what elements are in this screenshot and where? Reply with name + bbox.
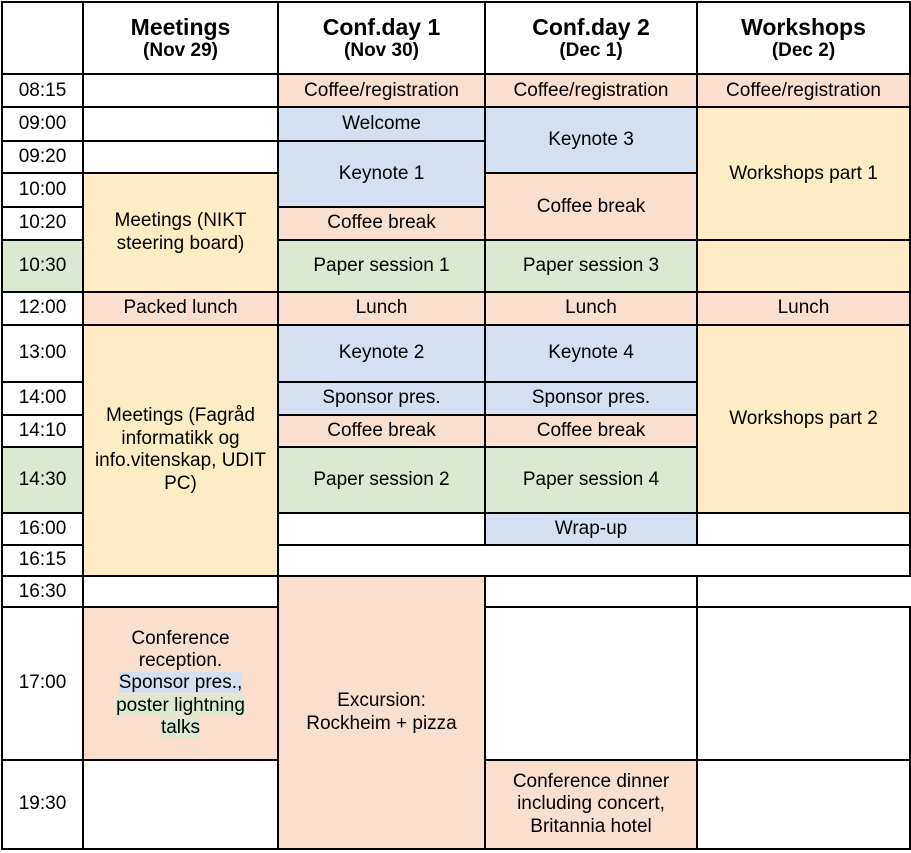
cell-meetings-packed-lunch: Packed lunch — [83, 292, 278, 324]
time-label-1630: 16:30 — [2, 576, 83, 607]
dinner-line-3: Britannia hotel — [489, 816, 693, 838]
reception-line-2: reception. — [87, 650, 274, 672]
cell-workshops-coffee-registration: Coffee/registration — [697, 74, 910, 107]
cell-day2-lunch: Lunch — [485, 292, 697, 324]
cell-meetings-0900 — [83, 107, 278, 140]
time-label-1430: 14:30 — [2, 447, 83, 513]
cell-day2-paper-session-4: Paper session 4 — [485, 447, 697, 513]
cell-meetings-fagrad: Meetings (Fagråd informatikk og info.vit… — [83, 325, 278, 577]
reception-line-1: Conference — [87, 628, 274, 650]
cell-day1-conference-dinner: Conference dinner including concert, Bri… — [485, 760, 697, 849]
time-label-1600: 16:00 — [2, 513, 83, 544]
table-row: 13:00 Meetings (Fagråd informatikk og in… — [2, 325, 910, 383]
cell-meetings-1930 — [83, 760, 278, 849]
excursion-line-1: Excursion: — [282, 690, 481, 712]
header-workshops: Workshops (Dec 2) — [697, 2, 910, 74]
dinner-line-1: Conference dinner — [489, 771, 693, 793]
cell-day1-coffee-registration: Coffee/registration — [278, 74, 485, 107]
table-row: 09:00 Welcome Keynote 3 Workshops part 1 — [2, 107, 910, 140]
time-label-1930: 19:30 — [2, 760, 83, 849]
cell-workshops-part-1: Workshops part 1 — [697, 107, 910, 240]
cell-day2-sponsor-pres: Sponsor pres. — [485, 382, 697, 414]
cell-day2-paper-session-3: Paper session 3 — [485, 240, 697, 292]
time-label-1615: 16:15 — [2, 545, 83, 576]
header-conf-day-1-date: (Nov 30) — [282, 40, 481, 62]
cell-day2-coffee-registration: Coffee/registration — [485, 74, 697, 107]
time-label-1400: 14:00 — [2, 382, 83, 414]
dinner-line-2: including concert, — [489, 793, 693, 815]
header-meetings-title: Meetings — [131, 14, 231, 40]
time-label-1000: 10:00 — [2, 173, 83, 206]
cell-day1-1700 — [485, 607, 697, 759]
table-row: 08:15 Coffee/registration Coffee/registr… — [2, 74, 910, 107]
cell-day1-keynote-1: Keynote 1 — [278, 141, 485, 207]
time-label-1410: 14:10 — [2, 415, 83, 447]
cell-day2-keynote-3: Keynote 3 — [485, 107, 697, 173]
excursion-line-2: Rockheim + pizza — [282, 713, 481, 735]
conference-schedule-table: Meetings (Nov 29) Conf.day 1 (Nov 30) Co… — [1, 1, 911, 850]
table-row: 12:00 Packed lunch Lunch Lunch Lunch — [2, 292, 910, 324]
time-label-1020: 10:20 — [2, 207, 83, 240]
cell-workshops-1630 — [485, 576, 697, 607]
time-label-1300: 13:00 — [2, 325, 83, 383]
cell-meetings-0920 — [83, 141, 278, 173]
cell-day2-coffee-break-afternoon: Coffee break — [485, 415, 697, 447]
time-label-1700: 17:00 — [2, 607, 83, 759]
cell-day2-excursion: Excursion: Rockheim + pizza — [278, 576, 485, 849]
cell-workshops-part-1-cont — [697, 240, 910, 292]
cell-day1-coffee-break-afternoon: Coffee break — [278, 415, 485, 447]
cell-day1-welcome: Welcome — [278, 107, 485, 140]
reception-line-3: Sponsor pres., — [119, 672, 243, 693]
table-row: 16:30 Excursion: Rockheim + pizza — [2, 576, 910, 607]
time-label-0900: 09:00 — [2, 107, 83, 140]
cell-merged-empty-1615 — [278, 545, 910, 576]
cell-day1-coffee-break-morning: Coffee break — [278, 207, 485, 240]
cell-day2-wrap-up: Wrap-up — [485, 513, 697, 544]
cell-day1-1630 — [83, 576, 278, 607]
cell-workshops-lunch: Lunch — [697, 292, 910, 324]
reception-line-5: talks — [161, 717, 200, 738]
header-time-column — [2, 2, 83, 74]
cell-meetings-0815 — [83, 74, 278, 107]
time-label-0815: 08:15 — [2, 74, 83, 107]
reception-line-4: poster lightning — [116, 695, 245, 716]
header-conf-day-2-date: (Dec 1) — [489, 40, 693, 62]
table-header-row: Meetings (Nov 29) Conf.day 1 (Nov 30) Co… — [2, 2, 910, 74]
cell-day1-keynote-2: Keynote 2 — [278, 325, 485, 383]
header-conf-day-1-title: Conf.day 1 — [323, 14, 441, 40]
header-conf-day-2-title: Conf.day 2 — [532, 14, 650, 40]
header-conf-day-2: Conf.day 2 (Dec 1) — [485, 2, 697, 74]
header-meetings-date: (Nov 29) — [87, 40, 274, 62]
cell-day1-paper-session-1: Paper session 1 — [278, 240, 485, 292]
cell-day1-paper-session-2: Paper session 2 — [278, 447, 485, 513]
cell-meetings-nikt-steering-board: Meetings (NIKT steering board) — [83, 173, 278, 292]
cell-workshops-1600 — [697, 513, 910, 544]
header-workshops-title: Workshops — [741, 14, 866, 40]
cell-day2-coffee-break-morning: Coffee break — [485, 173, 697, 240]
cell-workshops-part-2: Workshops part 2 — [697, 325, 910, 514]
cell-day1-1600 — [278, 513, 485, 544]
time-label-1030: 10:30 — [2, 240, 83, 292]
time-label-1200: 12:00 — [2, 292, 83, 324]
header-conf-day-1: Conf.day 1 (Nov 30) — [278, 2, 485, 74]
time-label-0920: 09:20 — [2, 141, 83, 173]
cell-meetings-conference-reception: Conference reception. Sponsor pres., pos… — [83, 607, 278, 759]
header-meetings: Meetings (Nov 29) — [83, 2, 278, 74]
cell-workshops-1700 — [697, 607, 910, 759]
cell-workshops-1930 — [697, 760, 910, 849]
cell-day1-sponsor-pres: Sponsor pres. — [278, 382, 485, 414]
cell-day1-lunch: Lunch — [278, 292, 485, 324]
cell-day2-keynote-4: Keynote 4 — [485, 325, 697, 383]
header-workshops-date: (Dec 2) — [701, 40, 906, 62]
